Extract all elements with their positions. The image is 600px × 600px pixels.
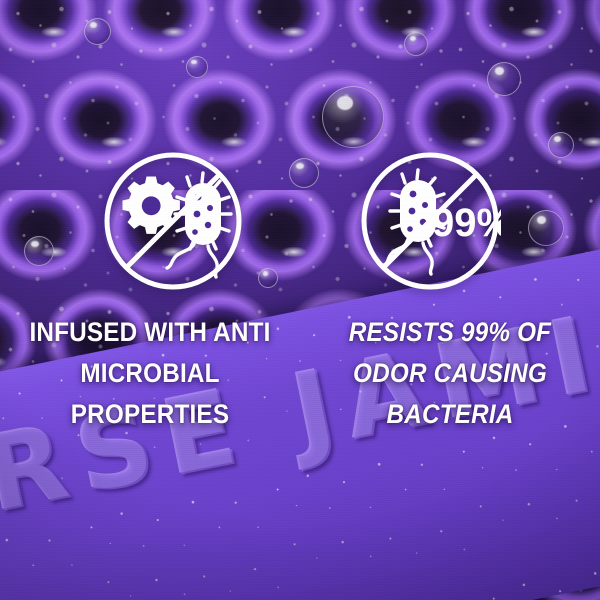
claim-left-line-1: INFUSED WITH ANTI xyxy=(20,312,281,353)
claim-odor-resistance: RESISTS 99% OF ODOR CAUSING BACTERIA xyxy=(305,312,595,435)
claim-right-line-3: BACTERIA xyxy=(320,394,581,435)
badge-odor-bacteria: 99% xyxy=(359,150,501,292)
soap-bubble xyxy=(289,158,319,188)
claim-left-line-2: MICROBIAL xyxy=(20,353,281,394)
claim-right-line-2: ODOR CAUSING xyxy=(320,353,581,394)
soap-bubble xyxy=(24,236,54,266)
badge-antimicrobial xyxy=(102,150,244,292)
bacteria-icon xyxy=(167,173,231,277)
soap-bubble xyxy=(404,32,428,56)
badge-percent-label: 99% xyxy=(432,201,501,245)
soap-bubble xyxy=(528,210,564,246)
soap-bubble xyxy=(322,86,384,148)
soap-bubble xyxy=(258,268,278,288)
soap-bubble xyxy=(487,62,521,96)
soap-bubble xyxy=(548,132,574,158)
product-feature-graphic: RSE JAMIE xyxy=(0,0,600,600)
claim-left-line-3: PROPERTIES xyxy=(20,394,281,435)
soap-bubble xyxy=(84,18,111,45)
claim-right-line-1: RESISTS 99% OF xyxy=(320,312,581,353)
soap-bubble xyxy=(186,56,208,78)
claim-antimicrobial: INFUSED WITH ANTI MICROBIAL PROPERTIES xyxy=(5,312,295,435)
